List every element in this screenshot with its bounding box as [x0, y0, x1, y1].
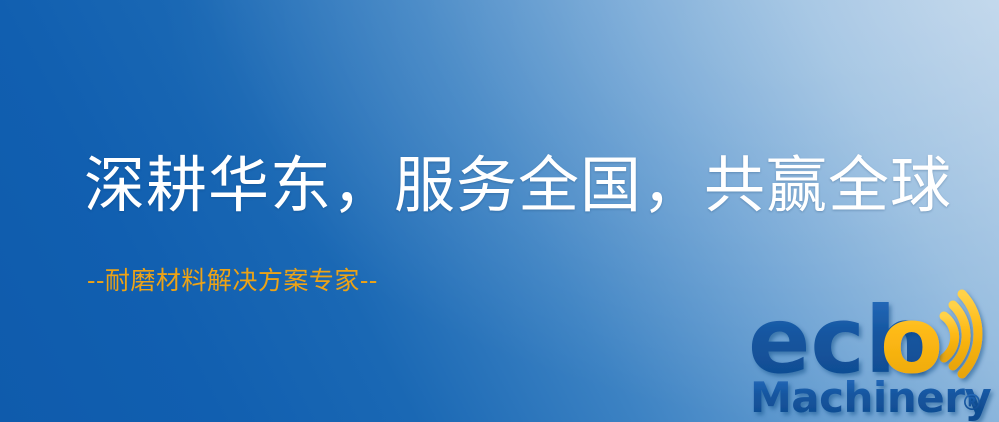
headline-text: 深耕华东，服务全国，共赢全球 — [84, 152, 952, 220]
subheadline-text: --耐磨材料解决方案专家-- — [87, 266, 378, 296]
logo-tagline-machinery: Machinery — [750, 373, 991, 422]
registered-trademark-icon: ® — [961, 391, 983, 416]
signal-waves-icon — [944, 294, 978, 374]
echo-machinery-logo: ech o Machinery ® — [748, 296, 999, 422]
promo-banner: 深耕华东，服务全国，共赢全球 --耐磨材料解决方案专家-- — [0, 0, 999, 422]
